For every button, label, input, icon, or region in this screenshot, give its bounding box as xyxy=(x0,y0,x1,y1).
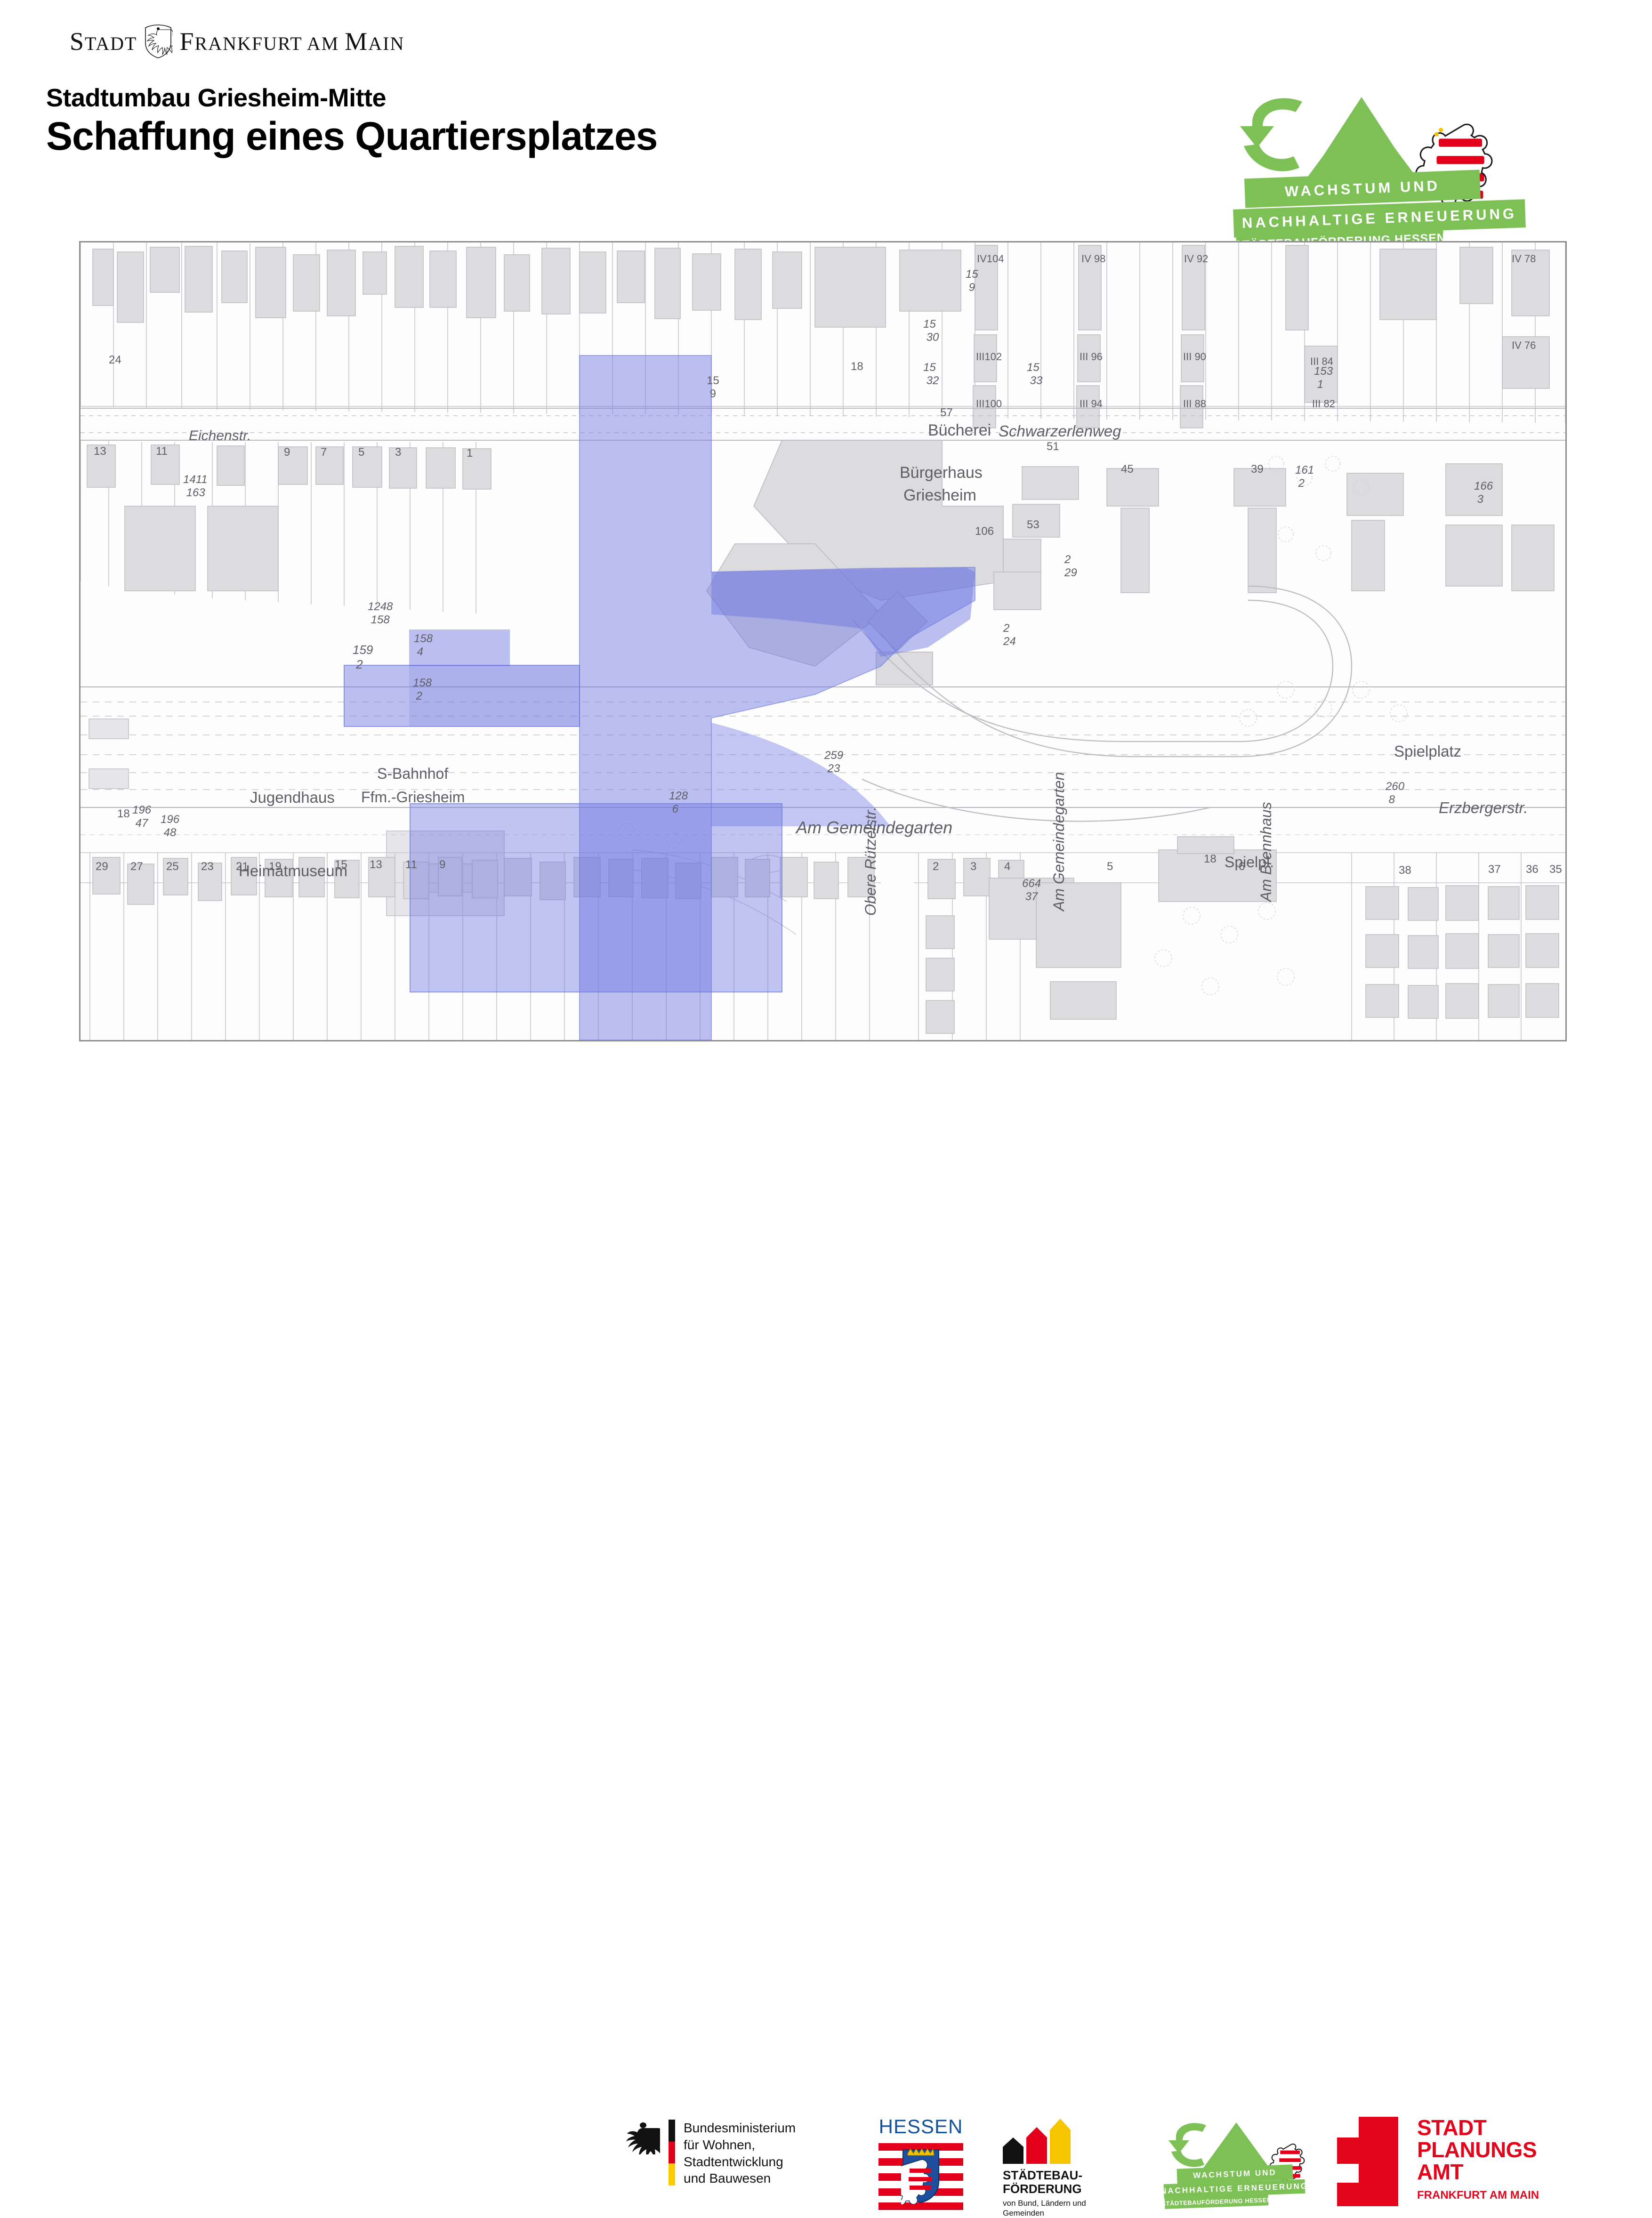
city-logo-text-left: STADT xyxy=(70,27,137,56)
parcel-number: 128 6 xyxy=(669,790,688,816)
house-number: 4 xyxy=(1004,860,1010,873)
parcel-number: 161 2 xyxy=(1295,464,1314,490)
parcel-number: 15 30 xyxy=(923,318,939,344)
eagle-crest-icon xyxy=(144,24,173,59)
parcel-number: 1248 158 xyxy=(368,600,393,627)
house-number: IV 78 xyxy=(1512,253,1536,265)
hessen-wordmark: HESSEN xyxy=(878,2117,963,2137)
street-label-am-brennhaus: Am Brennhaus xyxy=(1257,802,1275,902)
staedtebau-sub2: Gemeinden xyxy=(1003,2209,1130,2218)
house-number: III 90 xyxy=(1183,351,1206,363)
parcel-number: 229 xyxy=(1064,553,1077,580)
hessen-flag-icon xyxy=(878,2140,963,2210)
house-number: 5 xyxy=(1107,860,1113,873)
parcel-number: 158 2 xyxy=(413,677,432,703)
parcel-number: 159 2 xyxy=(353,643,373,672)
program-logo-footer: WACHSTUM UND NACHHALTIGE ERNEUERUNG STÄD… xyxy=(1149,2118,1351,2212)
staedtebaufoerderung-logo: STÄDTEBAU- FÖRDERUNG von Bund, Ländern u… xyxy=(1003,2119,1130,2208)
house-number: IV 98 xyxy=(1081,253,1105,265)
parcel-number: 15 33 xyxy=(1027,361,1042,387)
city-of-frankfurt-logo: STADT FRANKFURT AM MAIN xyxy=(70,24,371,59)
parcel-number: 1411 163 xyxy=(183,473,208,500)
house-number: 9 xyxy=(284,446,290,459)
house-number: III 82 xyxy=(1312,398,1335,410)
parcel-number: 196 48 xyxy=(161,813,179,839)
recycling-arrow-icon xyxy=(1168,2123,1206,2167)
house-number: 3 xyxy=(395,446,401,459)
staedtebau-sub1: von Bund, Ländern und xyxy=(1003,2199,1130,2208)
staedtebau-line1: STÄDTEBAU- xyxy=(1003,2169,1130,2182)
house-number: 53 xyxy=(1027,518,1040,532)
street-label-eichenstr: Eichenstr. xyxy=(189,428,251,444)
three-houses-icon xyxy=(1003,2119,1130,2164)
parcel-number: 158 4 xyxy=(414,632,433,659)
bmwsb-line3: und Bauwesen xyxy=(684,2170,847,2187)
cadastral-map[interactable]: Eichenstr. Schwarzerlenweg Erzbergerstr.… xyxy=(79,241,1567,1041)
house-number: 11 xyxy=(405,858,417,871)
house-number: 57 xyxy=(940,406,953,419)
house-number: IV 76 xyxy=(1512,339,1536,352)
house-number: 6 xyxy=(1239,860,1245,873)
house-number: 37 xyxy=(1488,863,1501,876)
parcel-number: 196 47 xyxy=(132,804,151,830)
place-label-jugendhaus: Jugendhaus xyxy=(250,789,335,807)
federal-eagle-icon xyxy=(626,2120,660,2154)
parcel-number: 153 1 xyxy=(1314,365,1333,391)
page-title: Schaffung eines Quartiersplatzes xyxy=(46,115,657,157)
house-number: 18 xyxy=(1204,853,1217,866)
house-number: 13 xyxy=(370,858,382,871)
parcel-number: 224 xyxy=(1003,622,1016,648)
house-number: 39 xyxy=(1251,463,1264,476)
house-number: 51 xyxy=(1047,440,1059,453)
house-number: III 96 xyxy=(1080,351,1103,363)
page-header: STADT FRANKFURT AM MAIN Stadtumbau Gries… xyxy=(0,0,1652,221)
house-number: 27 xyxy=(130,860,143,873)
place-label-spielplatz: Spielplatz xyxy=(1394,742,1461,760)
house-number: 9 xyxy=(439,858,445,871)
place-label-s-bahnhof-name: Ffm.-Griesheim xyxy=(361,789,465,806)
frankfurt-f-mark-icon xyxy=(1337,2117,1398,2206)
parcel-number: 15 32 xyxy=(923,361,939,387)
german-flag-bar-icon xyxy=(669,2120,675,2186)
map-vector-layer xyxy=(81,242,1565,1040)
house-number: III102 xyxy=(976,351,1002,363)
house-number: 18 xyxy=(117,807,130,821)
page-subtitle: Stadtumbau Griesheim-Mitte xyxy=(46,85,657,112)
house-number: 2 xyxy=(933,860,939,873)
recycling-arrow-icon xyxy=(1240,98,1302,171)
place-label-s-bahnhof: S-Bahnhof xyxy=(377,765,448,782)
spa-line1: STADT xyxy=(1417,2117,1539,2139)
house-number: 23 xyxy=(201,860,214,873)
house-number: 21 xyxy=(236,860,249,873)
street-label-schwarzerlenweg: Schwarzerlenweg xyxy=(999,422,1121,440)
bmwsb-line2: für Wohnen, Stadtentwicklung xyxy=(684,2137,847,2170)
green-tree-arrow-icon xyxy=(1304,97,1420,182)
parcel-number: 664 37 xyxy=(1022,877,1041,903)
spa-line2: PLANUNGS xyxy=(1417,2139,1539,2161)
place-label-spielpl: Spielpl. xyxy=(1225,854,1274,871)
house-number: 3 xyxy=(970,860,976,873)
house-number: 106 xyxy=(975,525,994,538)
house-number: 35 xyxy=(1549,863,1562,876)
place-label-buergerhaus: Bürgerhaus xyxy=(900,464,983,482)
house-number: 15 xyxy=(335,858,347,871)
bmwsb-logo: Bundesministerium für Wohnen, Stadtentwi… xyxy=(626,2120,847,2186)
house-number: 29 xyxy=(96,860,108,873)
bmwsb-line1: Bundesministerium xyxy=(684,2120,847,2137)
street-label-am-gemeindegarten-vertical: Am Gemeindegarten xyxy=(1050,772,1068,911)
house-number: 24 xyxy=(109,354,121,367)
spa-line3: AMT xyxy=(1417,2161,1539,2183)
house-number: 38 xyxy=(1399,864,1411,877)
house-number: 1 xyxy=(467,447,473,460)
house-number: 15 9 xyxy=(707,374,719,401)
parcel-number: 15 9 xyxy=(966,268,978,294)
place-label-buecherei: Bücherei xyxy=(928,421,991,440)
staedtebau-line2: FÖRDERUNG xyxy=(1003,2182,1130,2196)
place-label-heimatmuseum: Heimatmuseum xyxy=(239,862,347,880)
house-number: III 88 xyxy=(1183,398,1206,410)
title-block: Stadtumbau Griesheim-Mitte Schaffung ein… xyxy=(46,85,657,157)
spa-city: FRANKFURT AM MAIN xyxy=(1417,2189,1539,2202)
street-label-obere-ruetzelstr: Obere Rützelstr. xyxy=(862,807,879,916)
house-number: III100 xyxy=(976,398,1002,410)
house-number: 25 xyxy=(166,860,179,873)
house-number: 11 xyxy=(156,445,168,458)
parcel-number: 166 3 xyxy=(1474,480,1493,506)
house-number: 13 xyxy=(94,445,106,458)
bmwsb-text: Bundesministerium für Wohnen, Stadtentwi… xyxy=(684,2120,847,2187)
place-label-buergerhaus-griesheim: Griesheim xyxy=(903,486,976,505)
house-number: III 94 xyxy=(1080,398,1103,410)
page-footer: Bundesministerium für Wohnen, Stadtentwi… xyxy=(0,1055,1652,1168)
house-number: IV104 xyxy=(977,253,1004,265)
parcel-number: 260 8 xyxy=(1386,780,1404,807)
hessen-logo: HESSEN xyxy=(878,2117,963,2211)
house-number: IV 92 xyxy=(1184,253,1208,265)
stadtplanungsamt-logo: STADT PLANUNGS AMT FRANKFURT AM MAIN xyxy=(1337,2117,1582,2211)
house-number: 36 xyxy=(1526,863,1539,876)
house-number: 19 xyxy=(269,860,282,873)
house-number: 5 xyxy=(358,446,364,459)
hessen-shield-icon xyxy=(901,2148,941,2204)
house-number: 45 xyxy=(1121,463,1134,476)
city-logo-text-right: FRANKFURT AM MAIN xyxy=(179,27,404,56)
parcel-number: 259 23 xyxy=(824,749,843,775)
house-number: 7 xyxy=(321,446,327,459)
house-number: 18 xyxy=(851,360,863,373)
street-label-erzbergerstr: Erzbergerstr. xyxy=(1439,799,1528,817)
